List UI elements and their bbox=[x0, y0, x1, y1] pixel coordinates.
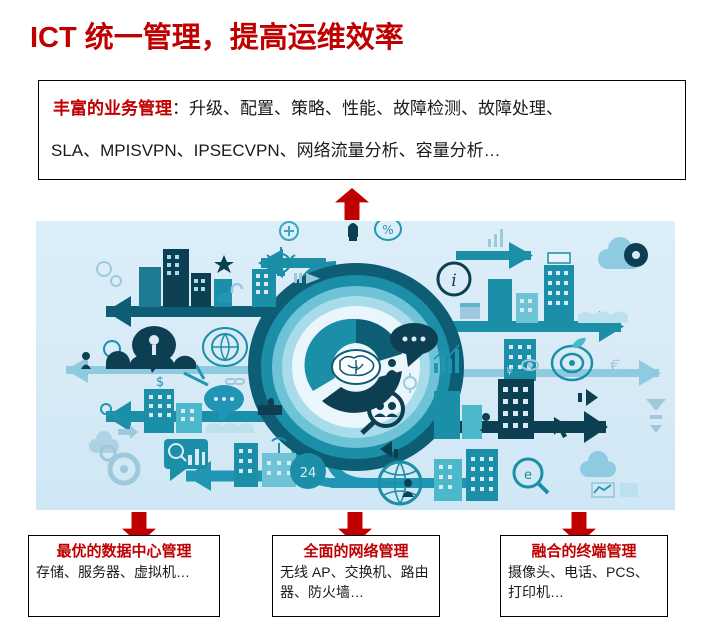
central-hub bbox=[248, 263, 464, 471]
bottom-box-network: 全面的网络管理 无线 AP、交换机、路由器、防火墙… bbox=[272, 535, 440, 617]
svg-text:%: % bbox=[382, 223, 393, 237]
box-heading-datacenter: 最优的数据中心管理 bbox=[29, 542, 219, 561]
box-body-datacenter: 存储、服务器、虚拟机… bbox=[29, 561, 219, 582]
feature-label: 丰富的业务管理 bbox=[53, 99, 172, 118]
svg-text:e: e bbox=[524, 468, 532, 483]
euro-icon: € bbox=[610, 356, 620, 375]
box-body-network: 无线 AP、交换机、路由器、防火墙… bbox=[273, 561, 439, 602]
page-title: ICT 统一管理，提高运维效率 bbox=[30, 14, 404, 56]
ict-concept-illustration: $ bbox=[36, 221, 675, 510]
feature-separator: ： bbox=[172, 99, 189, 118]
illustration-canvas: $ bbox=[36, 221, 675, 510]
red-up-arrow-icon bbox=[335, 188, 369, 220]
feature-items-line-two: SLA、MPISVPN、IPSECVPN、网络流量分析、容量分析… bbox=[51, 136, 501, 161]
rocket-icon bbox=[348, 223, 358, 241]
bottom-box-terminal: 融合的终端管理 摄像头、电话、PCS、打印机… bbox=[500, 535, 668, 617]
box-heading-network: 全面的网络管理 bbox=[273, 542, 439, 561]
svg-text:¥: ¥ bbox=[506, 365, 513, 378]
brain-icon bbox=[332, 350, 380, 384]
bottom-box-datacenter: 最优的数据中心管理 存储、服务器、虚拟机… bbox=[28, 535, 220, 617]
dollar-icon: $ bbox=[156, 375, 164, 390]
box-heading-terminal: 融合的终端管理 bbox=[501, 542, 667, 561]
24h-support-icon: 24 bbox=[290, 453, 326, 489]
feature-line-one: 丰富的业务管理：升级、配置、策略、性能、故障检测、故障处理、 bbox=[53, 94, 563, 119]
feature-summary-box: 丰富的业务管理：升级、配置、策略、性能、故障检测、故障处理、 SLA、MPISV… bbox=[38, 80, 686, 180]
badge-24-label: 24 bbox=[300, 466, 317, 481]
feature-items-line-one: 升级、配置、策略、性能、故障检测、故障处理、 bbox=[189, 99, 563, 118]
box-body-terminal: 摄像头、电话、PCS、打印机… bbox=[501, 561, 667, 602]
info-badge-label: i bbox=[451, 271, 456, 291]
document-icon bbox=[460, 303, 480, 319]
